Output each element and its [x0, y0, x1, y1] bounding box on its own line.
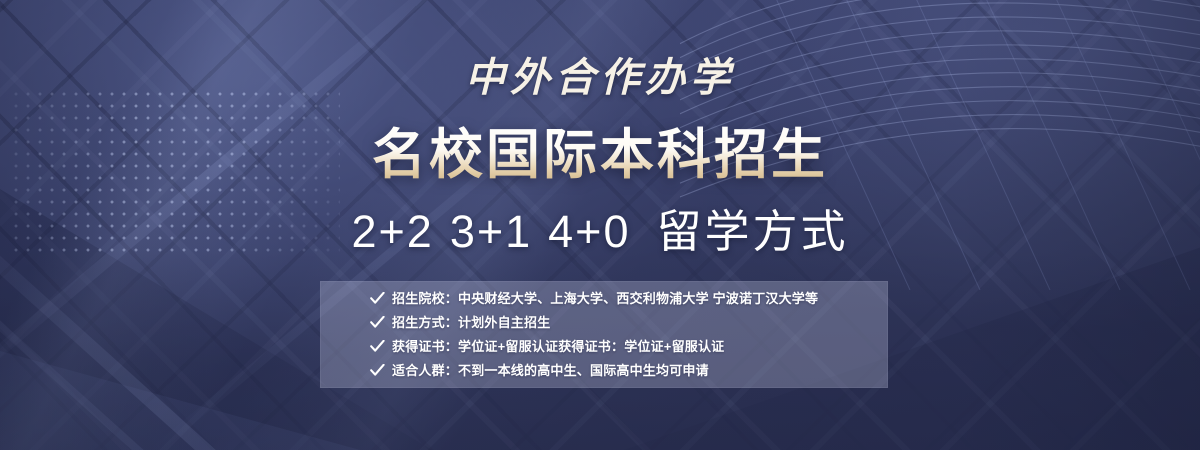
check-icon — [370, 364, 392, 377]
info-row: 适合人群：不到一本线的高中生、国际高中生均可申请 — [370, 359, 888, 383]
check-icon — [370, 292, 392, 305]
banner-subheadline: 2+23+14+0留学方式 — [0, 202, 1200, 262]
info-row-text: 适合人群：不到一本线的高中生、国际高中生均可申请 — [392, 359, 709, 383]
banner-eyebrow: 中外合作办学 — [0, 52, 1200, 104]
check-icon — [370, 316, 392, 329]
info-row: 获得证书：学位证+留服认证获得证书：学位证+留服认证 — [370, 335, 888, 359]
info-row: 招生院校：中央财经大学、上海大学、西交利物浦大学 宁波诺丁汉大学等 — [370, 287, 888, 311]
info-row-text: 招生院校：中央财经大学、上海大学、西交利物浦大学 宁波诺丁汉大学等 — [392, 287, 818, 311]
study-mode-3plus1: 3+1 — [450, 206, 532, 257]
banner-headline: 名校国际本科招生 — [0, 122, 1200, 188]
banner-content: 中外合作办学 名校国际本科招生 2+23+14+0留学方式 招生院校：中央财经大… — [0, 0, 1200, 450]
info-panel: 招生院校：中央财经大学、上海大学、西交利物浦大学 宁波诺丁汉大学等 招生方式：计… — [320, 281, 888, 388]
check-icon — [370, 340, 392, 353]
study-mode-2plus2: 2+2 — [351, 206, 433, 257]
study-mode-suffix: 留学方式 — [657, 206, 849, 257]
study-mode-4plus0: 4+0 — [548, 206, 630, 257]
promo-banner: 中外合作办学 名校国际本科招生 2+23+14+0留学方式 招生院校：中央财经大… — [0, 0, 1200, 450]
info-row-text: 招生方式：计划外自主招生 — [392, 311, 550, 335]
info-row-text: 获得证书：学位证+留服认证获得证书：学位证+留服认证 — [392, 335, 724, 359]
info-row: 招生方式：计划外自主招生 — [370, 311, 888, 335]
